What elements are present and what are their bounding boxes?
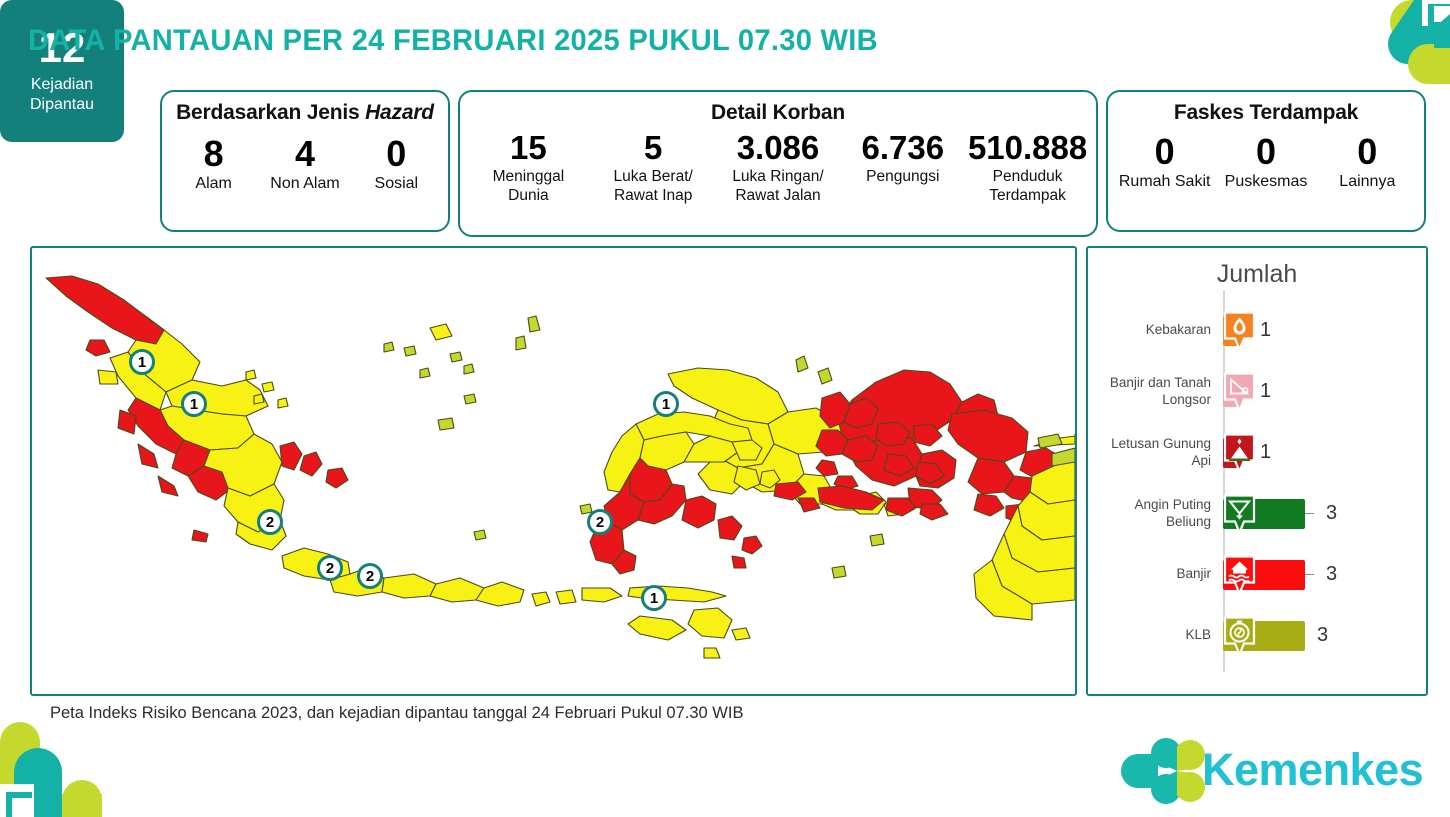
- chart-row-label-line1: Banjir: [1083, 566, 1211, 583]
- map-marker[interactable]: 1: [653, 391, 679, 417]
- map-marker-label: 1: [662, 397, 670, 412]
- korban-luka-berat-label2: Rawat Inap: [591, 187, 716, 205]
- chart-row[interactable]: Banjir 3: [1088, 544, 1426, 605]
- map-marker-ring: 2: [317, 555, 343, 581]
- faskes-lainnya-label: Lainnya: [1317, 173, 1418, 191]
- page-title: DATA PANTAUAN PER 24 FEBRUARI 2025 PUKUL…: [28, 24, 878, 58]
- fire-icon: [1223, 310, 1256, 351]
- map-marker-ring: 2: [257, 509, 283, 535]
- faskes-rumah-sakit-value: 0: [1114, 133, 1215, 171]
- corner-decoration-top-right: [1330, 0, 1450, 100]
- chart-tick: [1305, 574, 1314, 576]
- chart-rows: Kebakaran 1 Banjir dan Tanah: [1088, 300, 1426, 666]
- hazard-count-chart-panel: Jumlah Kebakaran 1: [1086, 246, 1428, 696]
- hazard-stat-sosial: 0 Sosial: [351, 135, 441, 193]
- flood-icon: [1223, 554, 1256, 595]
- map-marker-ring: 1: [641, 585, 667, 611]
- map-marker[interactable]: 2: [317, 555, 343, 581]
- map-marker-label: 2: [596, 515, 604, 530]
- chart-row-label-line1: Kebakaran: [1083, 322, 1211, 339]
- faskes-stat-rumah-sakit: 0 Rumah Sakit: [1114, 133, 1215, 191]
- hazard-alam-label: Alam: [168, 175, 258, 193]
- hazard-non-alam-label: Non Alam: [260, 175, 350, 193]
- map-marker-label: 1: [190, 397, 198, 412]
- korban-penduduk-label2: Terdampak: [965, 187, 1090, 205]
- chart-row-label-line1: Angin Puting: [1083, 497, 1211, 514]
- chart-bar-value: 3: [1326, 563, 1337, 586]
- korban-luka-berat-value: 5: [591, 131, 716, 166]
- chart-row-label-line2: Beliung: [1083, 514, 1211, 531]
- map-marker[interactable]: 1: [129, 349, 155, 375]
- hazard-non-alam-value: 4: [260, 135, 350, 173]
- map-marker[interactable]: 1: [181, 391, 207, 417]
- korban-meninggal-value: 15: [466, 131, 591, 166]
- chart-row[interactable]: Angin Puting Beliung 3: [1088, 483, 1426, 544]
- chart-bar-value: 1: [1260, 380, 1271, 403]
- chart-row-label: Banjir: [1083, 566, 1211, 583]
- kejadian-label-line2: Dipantau: [30, 95, 94, 115]
- hazard-stat-row: 8 Alam 4 Non Alam 0 Sosial: [162, 135, 448, 193]
- korban-stat-row: 15 Meninggal Dunia 5 Luka Berat/ Rawat I…: [460, 131, 1096, 205]
- korban-meninggal-label1: Meninggal: [466, 168, 591, 186]
- outbreak-icon: [1223, 615, 1256, 656]
- map-marker-label: 2: [366, 569, 374, 584]
- dashboard-root: DATA PANTAUAN PER 24 FEBRUARI 2025 PUKUL…: [0, 0, 1450, 817]
- kejadian-dipantau-card: 12 Kejadian Dipantau: [0, 0, 124, 142]
- korban-pengungsi-value: 6.736: [840, 131, 965, 166]
- faskes-lainnya-value: 0: [1317, 133, 1418, 171]
- korban-penduduk-value: 510.888: [965, 131, 1090, 166]
- map-marker[interactable]: 2: [257, 509, 283, 535]
- chart-row-label: Angin Puting Beliung: [1083, 497, 1211, 531]
- chart-title: Jumlah: [1088, 260, 1426, 289]
- korban-meninggal-label2: Dunia: [466, 187, 591, 205]
- hazard-stat-non-alam: 4 Non Alam: [260, 135, 350, 193]
- map-marker-ring: 1: [129, 349, 155, 375]
- korban-stat-luka-berat: 5 Luka Berat/ Rawat Inap: [591, 131, 716, 205]
- map-marker[interactable]: 2: [587, 509, 613, 535]
- faskes-puskesmas-label: Puskesmas: [1215, 173, 1316, 191]
- map-marker-label: 1: [650, 591, 658, 606]
- faskes-puskesmas-value: 0: [1215, 133, 1316, 171]
- kejadian-label-line1: Kejadian: [31, 75, 93, 95]
- chart-row[interactable]: KLB 3: [1088, 605, 1426, 666]
- korban-pengungsi-label1: Pengungsi: [840, 168, 965, 186]
- chart-row-label-line1: Letusan Gunung: [1083, 436, 1211, 453]
- chart-bar-wrap: 1: [1223, 361, 1271, 422]
- faskes-stat-lainnya: 0 Lainnya: [1317, 133, 1418, 191]
- chart-bar-value: 1: [1260, 441, 1271, 464]
- map-marker-label: 2: [266, 515, 274, 530]
- map-marker-ring: 1: [653, 391, 679, 417]
- faskes-rumah-sakit-label: Rumah Sakit: [1114, 173, 1215, 191]
- faskes-stat-puskesmas: 0 Puskesmas: [1215, 133, 1316, 191]
- faskes-stat-row: 0 Rumah Sakit 0 Puskesmas 0 Lainnya: [1108, 133, 1424, 191]
- korban-luka-ringan-value: 3.086: [716, 131, 841, 166]
- chart-row-label: Banjir dan Tanah Longsor: [1083, 375, 1211, 409]
- landslide-icon: [1223, 371, 1256, 412]
- map-marker-label: 2: [326, 561, 334, 576]
- chart-bar-wrap: 3: [1223, 544, 1337, 605]
- chart-row-label-line2: Longsor: [1083, 392, 1211, 409]
- chart-tick: [1305, 513, 1314, 515]
- faskes-terdampak-card: Faskes Terdampak 0 Rumah Sakit 0 Puskesm…: [1106, 90, 1426, 232]
- chart-row-label: Letusan Gunung Api: [1083, 436, 1211, 470]
- hazard-card-title: Berdasarkan Jenis Hazard: [162, 101, 448, 125]
- chart-bar-wrap: 3: [1223, 605, 1328, 666]
- hazard-sosial-value: 0: [351, 135, 441, 173]
- korban-luka-berat-label1: Luka Berat/: [591, 168, 716, 186]
- chart-row[interactable]: Kebakaran 1: [1088, 300, 1426, 361]
- volcano-icon: [1223, 432, 1256, 473]
- hazard-title-plain: Berdasarkan Jenis: [176, 101, 365, 124]
- korban-penduduk-label1: Penduduk: [965, 168, 1090, 186]
- map-marker[interactable]: 2: [357, 563, 383, 589]
- korban-card-title: Detail Korban: [460, 101, 1096, 125]
- hazard-sosial-label: Sosial: [351, 175, 441, 193]
- hazard-type-card: Berdasarkan Jenis Hazard 8 Alam 4 Non Al…: [160, 90, 450, 232]
- chart-bar-wrap: 1: [1223, 300, 1271, 361]
- chart-row-label: KLB: [1083, 627, 1211, 644]
- tornado-icon: [1223, 493, 1256, 534]
- chart-row-label: Kebakaran: [1083, 322, 1211, 339]
- chart-bar-value: 3: [1326, 502, 1337, 525]
- detail-korban-card: Detail Korban 15 Meninggal Dunia 5 Luka …: [458, 90, 1098, 237]
- chart-row-label-line1: Banjir dan Tanah: [1083, 375, 1211, 392]
- chart-row-label-line2: Api: [1083, 453, 1211, 470]
- chart-bar-value: 1: [1260, 319, 1271, 342]
- korban-stat-penduduk: 510.888 Penduduk Terdampak: [965, 131, 1090, 205]
- indonesia-risk-map-panel[interactable]: 1 1 2 2 2 1 2 1: [30, 246, 1077, 696]
- faskes-card-title: Faskes Terdampak: [1108, 101, 1424, 125]
- chart-row-label-line1: KLB: [1083, 627, 1211, 644]
- chart-bar-wrap: 3: [1223, 483, 1337, 544]
- korban-stat-luka-ringan: 3.086 Luka Ringan/ Rawat Jalan: [716, 131, 841, 205]
- kemenkes-wordmark: Kemenkes: [1202, 744, 1423, 796]
- map-marker-ring: 2: [357, 563, 383, 589]
- chart-row[interactable]: Banjir dan Tanah Longsor 1: [1088, 361, 1426, 422]
- hazard-title-emphasis: Hazard: [365, 101, 434, 124]
- korban-luka-ringan-label1: Luka Ringan/: [716, 168, 841, 186]
- corner-decoration-bottom-left: [0, 722, 140, 817]
- map-marker[interactable]: 1: [641, 585, 667, 611]
- map-caption: Peta Indeks Risiko Bencana 2023, dan kej…: [50, 704, 743, 723]
- korban-stat-meninggal: 15 Meninggal Dunia: [466, 131, 591, 205]
- korban-luka-ringan-label2: Rawat Jalan: [716, 187, 841, 205]
- hazard-alam-value: 8: [168, 135, 258, 173]
- chart-row[interactable]: Letusan Gunung Api 1: [1088, 422, 1426, 483]
- chart-bar-value: 3: [1317, 624, 1328, 647]
- indonesia-map: [32, 248, 1075, 694]
- chart-bar-wrap: 1: [1223, 422, 1271, 483]
- map-marker-label: 1: [138, 355, 146, 370]
- map-marker-ring: 2: [587, 509, 613, 535]
- korban-stat-pengungsi: 6.736 Pengungsi: [840, 131, 965, 185]
- hazard-stat-alam: 8 Alam: [168, 135, 258, 193]
- map-marker-ring: 1: [181, 391, 207, 417]
